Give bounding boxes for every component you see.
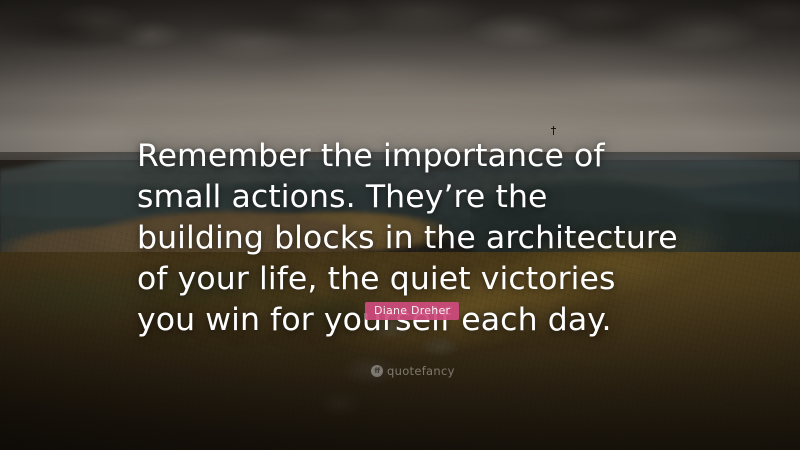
- author-badge[interactable]: Diane Dreher: [365, 302, 459, 320]
- quote-poster: Remember the importance of small actions…: [0, 0, 800, 450]
- watermark-brand-label: quotefancy: [387, 365, 455, 377]
- poster-content: Remember the importance of small actions…: [0, 0, 800, 450]
- quotefancy-logo-icon: ff: [371, 365, 383, 377]
- watermark[interactable]: ff quotefancy: [371, 365, 455, 377]
